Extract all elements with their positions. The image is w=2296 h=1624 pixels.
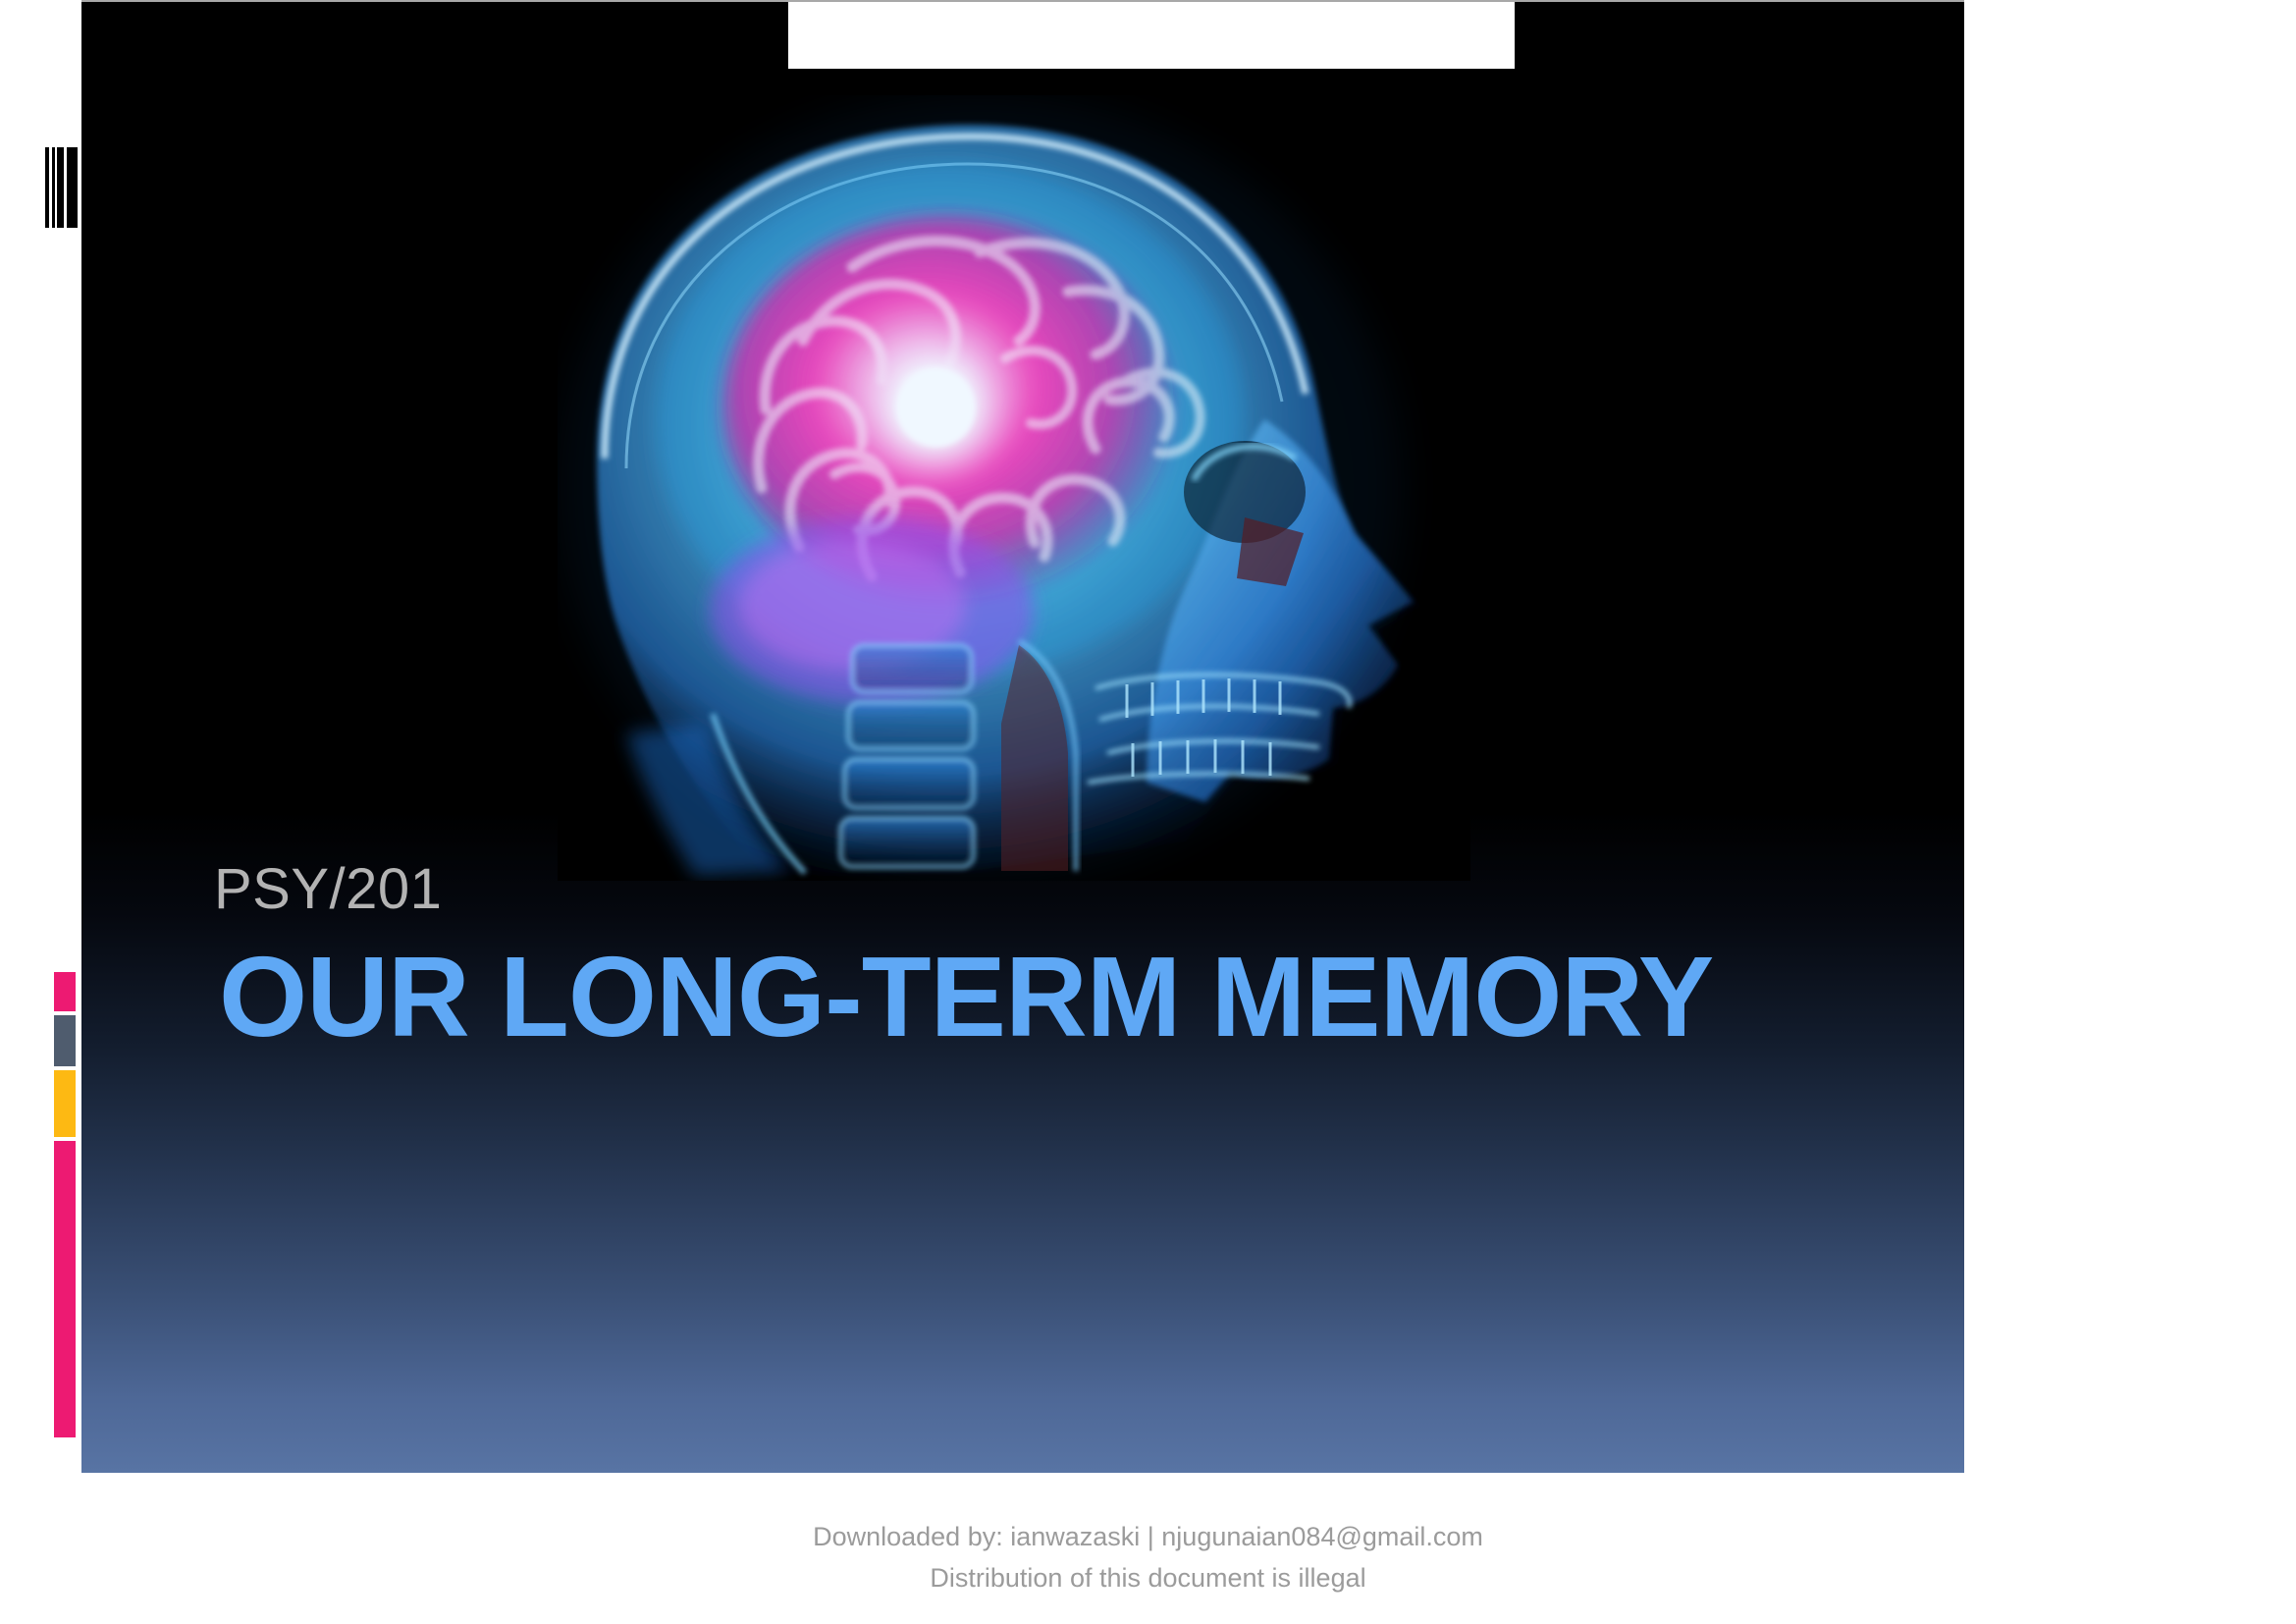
xray-brain-svg bbox=[558, 95, 1470, 881]
accent-segment-magenta-long bbox=[54, 1141, 76, 1437]
xray-brain-illustration bbox=[558, 95, 1470, 881]
barcode-bar bbox=[57, 147, 64, 228]
accent-segment-slate bbox=[54, 1015, 76, 1066]
accent-color-strip bbox=[54, 972, 76, 1437]
document-page: PSY/201 OUR LONG-TERM MEMORY Downloaded … bbox=[0, 0, 2296, 1624]
left-gutter bbox=[0, 0, 81, 1473]
blank-text-placeholder[interactable] bbox=[788, 2, 1515, 69]
page-title: OUR LONG-TERM MEMORY bbox=[219, 940, 1713, 1054]
barcode-icon bbox=[45, 147, 80, 228]
footer-distribution-notice: Distribution of this document is illegal bbox=[0, 1558, 2296, 1599]
barcode-bar bbox=[67, 147, 78, 228]
presentation-slide: PSY/201 OUR LONG-TERM MEMORY bbox=[81, 2, 1964, 1473]
document-footer: Downloaded by: ianwazaski | njugunaian08… bbox=[0, 1517, 2296, 1599]
accent-segment-amber bbox=[54, 1070, 76, 1137]
slide-eyebrow-course-code: PSY/201 bbox=[214, 856, 442, 922]
footer-download-attribution: Downloaded by: ianwazaski | njugunaian08… bbox=[0, 1517, 2296, 1558]
accent-segment-magenta-top bbox=[54, 972, 76, 1011]
